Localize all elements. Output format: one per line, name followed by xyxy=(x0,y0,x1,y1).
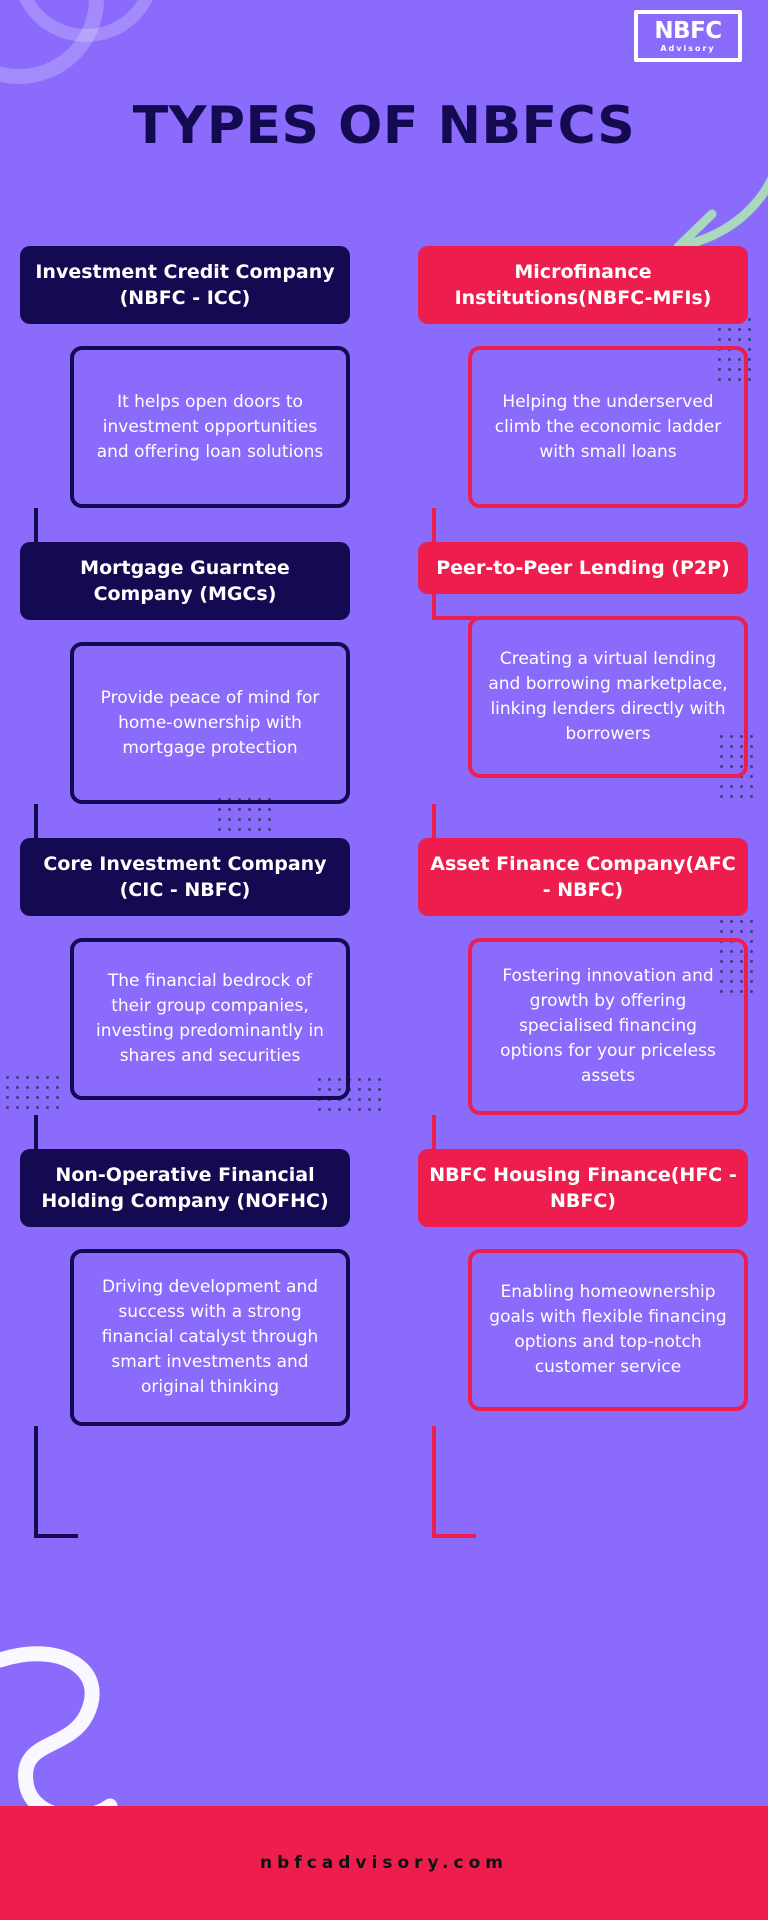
card-header[interactable]: Investment Credit Company (NBFC - ICC) xyxy=(20,246,350,324)
card-pair-non-operative-financial-holding-company: Non-Operative Financial Holding Company … xyxy=(20,1149,350,1426)
card-row: Mortgage Guarntee Company (MGCs) Provide… xyxy=(0,542,768,804)
card-header[interactable]: Mortgage Guarntee Company (MGCs) xyxy=(20,542,350,620)
card-body: Creating a virtual lending and borrowing… xyxy=(468,616,748,778)
card-body: Fostering innovation and growth by offer… xyxy=(468,938,748,1115)
card-body: It helps open doors to investment opport… xyxy=(70,346,350,508)
card-row: Investment Credit Company (NBFC - ICC) I… xyxy=(0,246,768,508)
page-title: TYPES OF NBFCS xyxy=(0,96,768,156)
footer-website-url[interactable]: nbfcadvisory.com xyxy=(260,1853,508,1873)
card-header[interactable]: Asset Finance Company(AFC - NBFC) xyxy=(418,838,748,916)
card-header[interactable]: Core Investment Company (CIC - NBFC) xyxy=(20,838,350,916)
brand-logo: NBFC Advisory xyxy=(634,10,742,62)
card-pair-microfinance-institutions: Microfinance Institutions(NBFC-MFIs) Hel… xyxy=(418,246,748,508)
logo-tagline: Advisory xyxy=(660,44,715,53)
card-pair-peer-to-peer-lending: Peer-to-Peer Lending (P2P) Creating a vi… xyxy=(418,542,748,804)
card-body: Helping the underserved climb the econom… xyxy=(468,346,748,508)
cards-board: Investment Credit Company (NBFC - ICC) I… xyxy=(0,246,768,1426)
card-header[interactable]: Microfinance Institutions(NBFC-MFIs) xyxy=(418,246,748,324)
card-header[interactable]: Peer-to-Peer Lending (P2P) xyxy=(418,542,748,594)
card-body: Driving development and success with a s… xyxy=(70,1249,350,1426)
decorative-circle-outline-secondary xyxy=(12,0,160,42)
card-body: Enabling homeownership goals with flexib… xyxy=(468,1249,748,1411)
footer-bar: nbfcadvisory.com xyxy=(0,1806,768,1920)
card-header[interactable]: Non-Operative Financial Holding Company … xyxy=(20,1149,350,1227)
card-pair-nbfc-housing-finance: NBFC Housing Finance(HFC - NBFC) Enablin… xyxy=(418,1149,748,1426)
card-pair-core-investment-company: Core Investment Company (CIC - NBFC) The… xyxy=(20,838,350,1115)
card-header[interactable]: NBFC Housing Finance(HFC - NBFC) xyxy=(418,1149,748,1227)
decorative-circle-outline xyxy=(0,0,104,84)
card-pair-asset-finance-company: Asset Finance Company(AFC - NBFC) Foster… xyxy=(418,838,748,1115)
card-row: Core Investment Company (CIC - NBFC) The… xyxy=(0,838,768,1115)
logo-wordmark: NBFC xyxy=(654,20,721,43)
card-pair-investment-credit-company: Investment Credit Company (NBFC - ICC) I… xyxy=(20,246,350,508)
card-body: The financial bedrock of their group com… xyxy=(70,938,350,1100)
card-row: Non-Operative Financial Holding Company … xyxy=(0,1149,768,1426)
card-pair-mortgage-guarantee-company: Mortgage Guarntee Company (MGCs) Provide… xyxy=(20,542,350,804)
card-body: Provide peace of mind for home-ownership… xyxy=(70,642,350,804)
